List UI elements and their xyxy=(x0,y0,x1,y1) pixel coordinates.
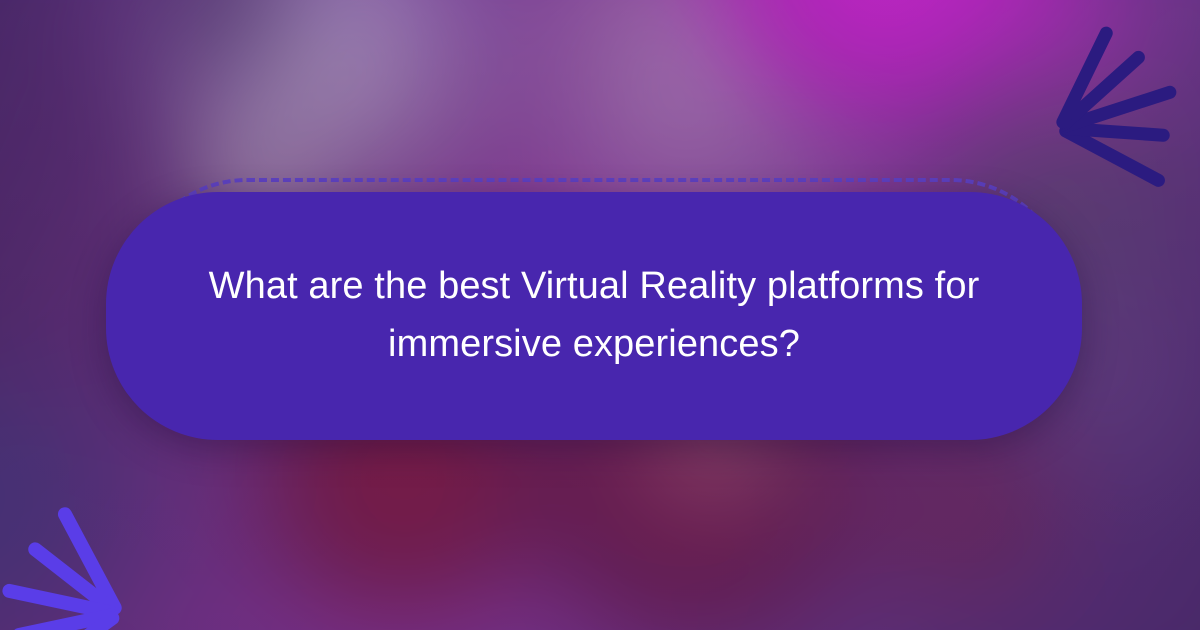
question-text: What are the best Virtual Reality platfo… xyxy=(184,258,1004,374)
question-card[interactable]: What are the best Virtual Reality platfo… xyxy=(106,192,1082,440)
social-card-canvas: What are the best Virtual Reality platfo… xyxy=(0,0,1200,630)
